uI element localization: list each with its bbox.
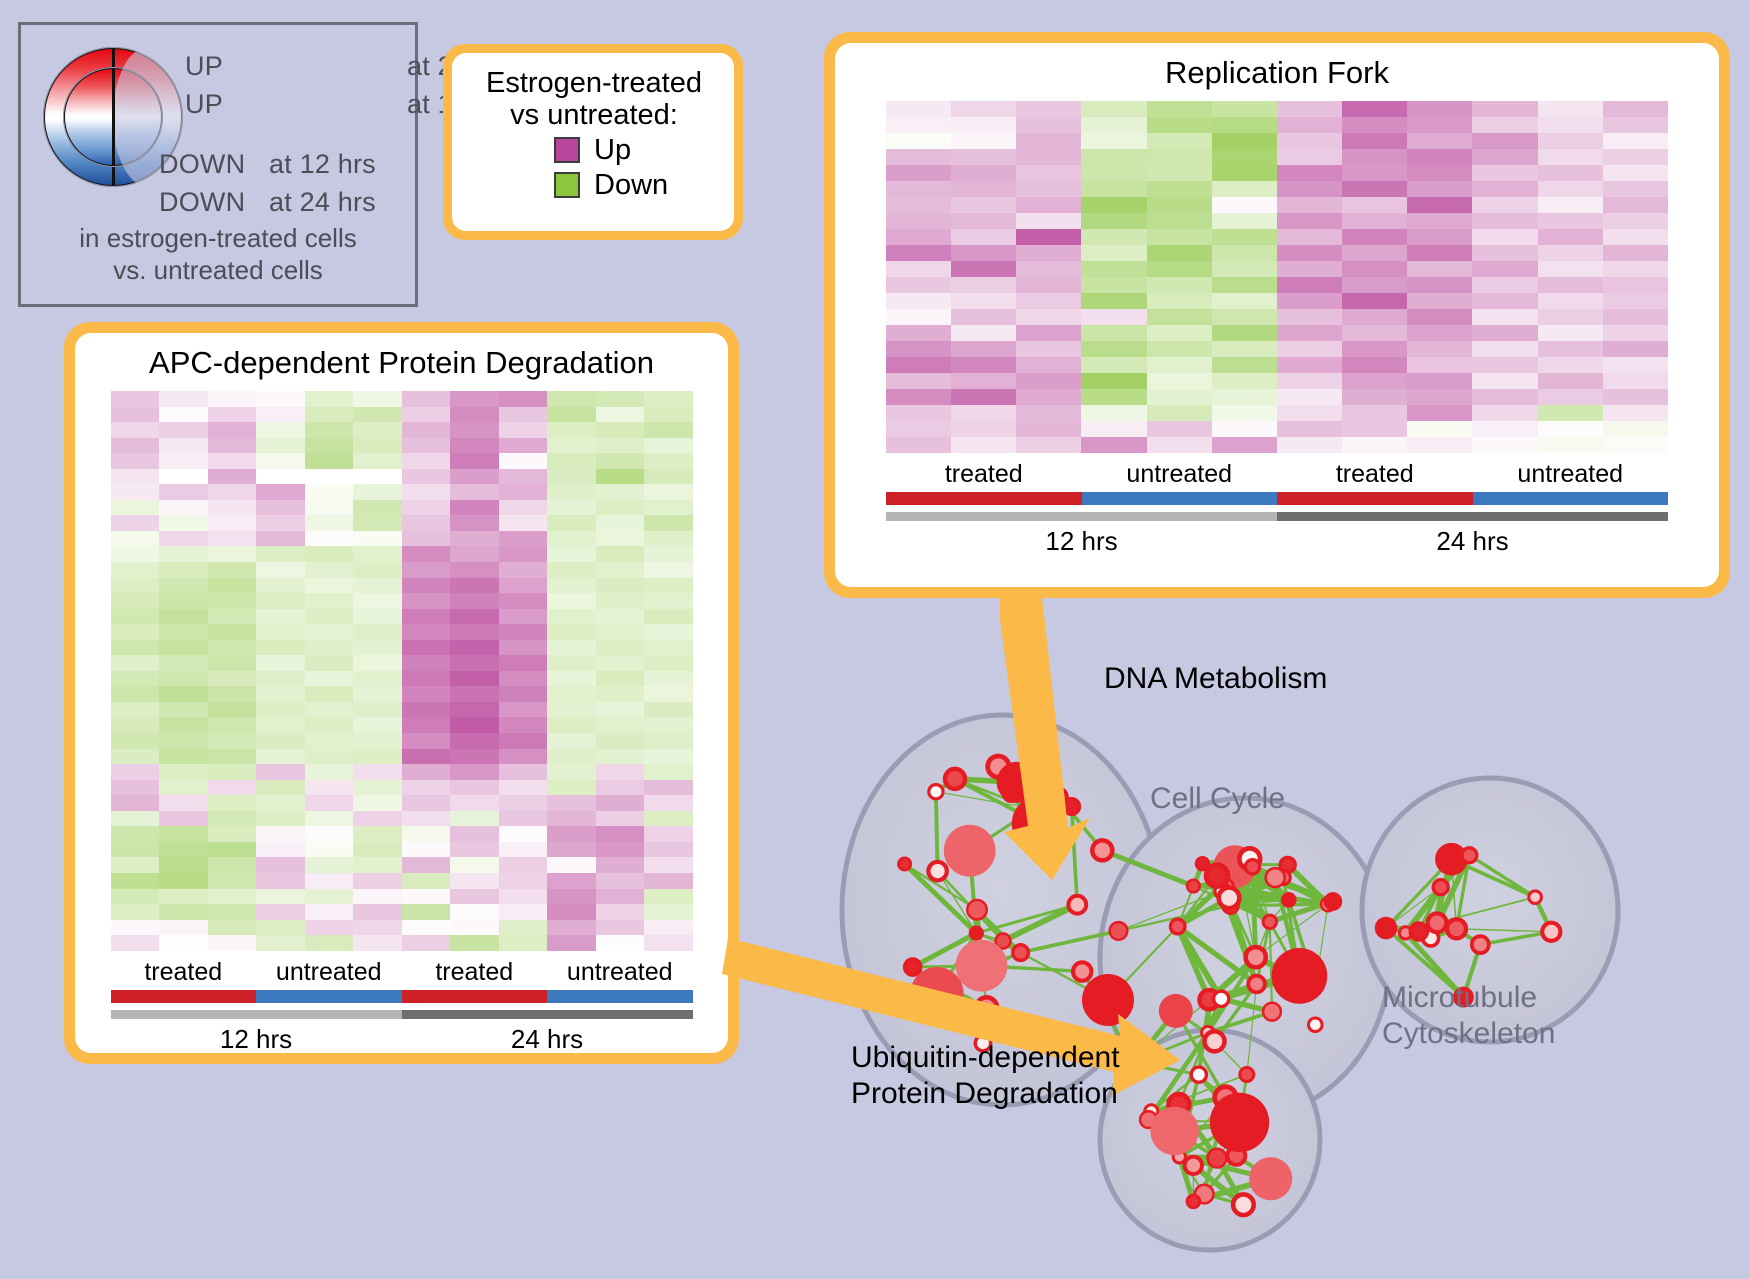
heatmap-cell bbox=[499, 562, 548, 578]
heatmap-cell bbox=[256, 422, 305, 438]
heatmap-cell bbox=[596, 407, 645, 423]
heatmap-cell bbox=[951, 405, 1016, 421]
heatmap-cell bbox=[208, 826, 257, 842]
heatmap-cell bbox=[1277, 245, 1342, 261]
color-scale-legend: UP at 24 hrs UP at 12 hrs DOWN at 12 hrs… bbox=[18, 22, 418, 307]
heatmap-cell bbox=[159, 655, 208, 671]
heatmap-cell bbox=[547, 484, 596, 500]
heatmap-cell bbox=[499, 671, 548, 687]
heatmap-cell bbox=[644, 733, 693, 749]
heatmap-cell bbox=[305, 780, 354, 796]
heatmap-cell bbox=[450, 578, 499, 594]
heatmap-cell bbox=[1407, 357, 1472, 373]
heatmap-cell bbox=[1538, 405, 1603, 421]
timepoint-label: 12 hrs bbox=[886, 521, 1277, 557]
caption-line-2: vs. untreated cells bbox=[21, 255, 415, 287]
heatmap-cell bbox=[1472, 101, 1537, 117]
heatmap-cell bbox=[353, 904, 402, 920]
network-node bbox=[1191, 1067, 1206, 1082]
heatmap-cell bbox=[1538, 229, 1603, 245]
heatmap-cell bbox=[1081, 405, 1146, 421]
heatmap-cell bbox=[111, 624, 160, 640]
heatmap-cell bbox=[1212, 133, 1277, 149]
heatmap-cell bbox=[1147, 373, 1212, 389]
heatmap-cell bbox=[951, 373, 1016, 389]
heatmap-cell bbox=[499, 889, 548, 905]
heatmap-cell bbox=[547, 624, 596, 640]
heatmap-cell bbox=[499, 686, 548, 702]
heatmap-cell bbox=[111, 873, 160, 889]
condition-label: treated bbox=[111, 951, 257, 990]
heatmap-cell bbox=[596, 655, 645, 671]
heatmap-cell bbox=[1016, 101, 1081, 117]
heatmap-cell bbox=[596, 515, 645, 531]
heatmap-cell bbox=[402, 422, 451, 438]
heatmap-cell bbox=[1081, 437, 1146, 453]
bar-untreated-24 bbox=[547, 990, 693, 1003]
heatmap-cell bbox=[159, 391, 208, 407]
heatmap-cell bbox=[596, 640, 645, 656]
condition-label: untreated bbox=[1473, 453, 1669, 492]
network-node bbox=[956, 940, 1008, 992]
heatmap-cell bbox=[353, 422, 402, 438]
heatmap-cell bbox=[1538, 341, 1603, 357]
heatmap-cell bbox=[111, 422, 160, 438]
heatmap-cell bbox=[1147, 277, 1212, 293]
heatmap-cell bbox=[353, 407, 402, 423]
network-node bbox=[945, 769, 965, 789]
heatmap-cell bbox=[1472, 325, 1537, 341]
heatmap-cell bbox=[951, 309, 1016, 325]
heatmap-cell bbox=[596, 764, 645, 780]
heatmap-cell bbox=[353, 780, 402, 796]
heatmap-cell bbox=[951, 197, 1016, 213]
heatmap-cell bbox=[1538, 437, 1603, 453]
heatmap-cell bbox=[208, 764, 257, 780]
heatmap-cell bbox=[596, 624, 645, 640]
heatmap-cell bbox=[305, 811, 354, 827]
heatmap-cell bbox=[1407, 117, 1472, 133]
heatmap-cell bbox=[159, 702, 208, 718]
heatmap-cell bbox=[596, 484, 645, 500]
heatmap-cell bbox=[111, 671, 160, 687]
heatmap-cell bbox=[596, 811, 645, 827]
heatmap-cell bbox=[644, 780, 693, 796]
heatmap-cell bbox=[1147, 101, 1212, 117]
heatmap-cell bbox=[1081, 389, 1146, 405]
heatmap-cell bbox=[159, 407, 208, 423]
heatmap-cell bbox=[402, 873, 451, 889]
bar-treated-24 bbox=[402, 990, 548, 1003]
heatmap-cell bbox=[596, 562, 645, 578]
heatmap-cell bbox=[402, 484, 451, 500]
heatmap-cell bbox=[353, 671, 402, 687]
heatmap-cell bbox=[353, 484, 402, 500]
heatmap-cell bbox=[1342, 309, 1407, 325]
heatmap-cell bbox=[596, 469, 645, 485]
heatmap-cell bbox=[951, 277, 1016, 293]
heatmap-cell bbox=[1407, 277, 1472, 293]
heatmap-cell bbox=[547, 811, 596, 827]
heatmap-cell bbox=[111, 609, 160, 625]
heatmap-cell bbox=[547, 920, 596, 936]
heatmap-cell bbox=[1277, 229, 1342, 245]
heatmap-cell bbox=[1081, 325, 1146, 341]
network-node bbox=[1240, 1068, 1254, 1082]
heatmap-cell bbox=[159, 562, 208, 578]
heatmap-cell bbox=[159, 857, 208, 873]
heatmap-cell bbox=[1081, 309, 1146, 325]
heatmap-cell bbox=[886, 181, 951, 197]
network-node bbox=[1249, 1157, 1292, 1200]
heatmap-cell bbox=[1147, 405, 1212, 421]
heatmap-cell bbox=[1407, 165, 1472, 181]
heatmap-cell bbox=[1212, 213, 1277, 229]
heatmap-cell bbox=[1277, 181, 1342, 197]
heatmap-cell bbox=[305, 391, 354, 407]
heatmap-cell bbox=[450, 904, 499, 920]
heatmap-cell bbox=[305, 873, 354, 889]
heatmap-cell bbox=[596, 438, 645, 454]
heatmap-cell bbox=[1147, 229, 1212, 245]
heatmap-cell bbox=[644, 391, 693, 407]
heatmap-cell bbox=[305, 640, 354, 656]
microtubule-line-1: Microtubule bbox=[1382, 980, 1555, 1016]
heatmap-cell bbox=[1016, 133, 1081, 149]
heatmap-cell bbox=[1016, 405, 1081, 421]
heatmap-cell bbox=[353, 609, 402, 625]
heatmap-cell bbox=[499, 780, 548, 796]
heatmap-cell bbox=[159, 578, 208, 594]
heatmap-cell bbox=[1277, 357, 1342, 373]
heatmap-cell bbox=[402, 842, 451, 858]
heatmap-cell bbox=[1603, 133, 1668, 149]
heatmap-cell bbox=[450, 422, 499, 438]
heatmap-cell bbox=[159, 469, 208, 485]
heatmap-cell bbox=[159, 873, 208, 889]
heatmap-cell bbox=[159, 484, 208, 500]
heatmap-cell bbox=[208, 515, 257, 531]
heatmap-cell bbox=[402, 749, 451, 765]
heatmap-cell bbox=[208, 500, 257, 516]
heatmap-cell bbox=[208, 609, 257, 625]
heatmap-cell bbox=[256, 920, 305, 936]
heatmap-cell bbox=[1147, 213, 1212, 229]
heatmap-cell bbox=[111, 515, 160, 531]
heatmap-cell bbox=[1342, 277, 1407, 293]
heatmap-cell bbox=[499, 453, 548, 469]
heatmap-cell bbox=[499, 920, 548, 936]
timepoint-label: 24 hrs bbox=[1277, 521, 1668, 557]
heatmap-cell bbox=[1342, 165, 1407, 181]
heatmap-cell bbox=[305, 453, 354, 469]
heatmap-cell bbox=[305, 531, 354, 547]
heatmap-cell bbox=[547, 531, 596, 547]
replication-fork-title: Replication Fork bbox=[1165, 55, 1389, 91]
heatmap-cell bbox=[1407, 325, 1472, 341]
heatmap-cell bbox=[1342, 213, 1407, 229]
heatmap-cell bbox=[402, 438, 451, 454]
heatmap-cell bbox=[208, 593, 257, 609]
heatmap-cell bbox=[305, 609, 354, 625]
heatmap-cell bbox=[111, 764, 160, 780]
heatmap-cell bbox=[159, 935, 208, 951]
network-node bbox=[1208, 1149, 1227, 1168]
heatmap-cell bbox=[353, 515, 402, 531]
heatmap-cell bbox=[1603, 117, 1668, 133]
heatmap-cell bbox=[1407, 309, 1472, 325]
heatmap-cell bbox=[1147, 165, 1212, 181]
heatmap-cell bbox=[256, 842, 305, 858]
heatmap-cell bbox=[644, 920, 693, 936]
heatmap-cell bbox=[159, 795, 208, 811]
heatmap-cell bbox=[1277, 373, 1342, 389]
timepoint-labels: 12 hrs24 hrs bbox=[886, 521, 1668, 557]
heatmap-cell bbox=[159, 500, 208, 516]
heatmap-cell bbox=[111, 733, 160, 749]
heatmap-cell bbox=[644, 826, 693, 842]
heatmap-cell bbox=[353, 531, 402, 547]
heatmap-cell bbox=[1016, 245, 1081, 261]
heatmap-cell bbox=[1472, 341, 1537, 357]
heatmap-cell bbox=[1472, 213, 1537, 229]
heatmap-cell bbox=[256, 515, 305, 531]
heatmap-cell bbox=[1472, 421, 1537, 437]
heatmap-cell bbox=[1342, 181, 1407, 197]
heatmap-cell bbox=[450, 889, 499, 905]
heatmap-cell bbox=[951, 389, 1016, 405]
heatmap-cell bbox=[1407, 405, 1472, 421]
heatmap-cell bbox=[644, 764, 693, 780]
heatmap-cell bbox=[353, 842, 402, 858]
heatmap-cell bbox=[305, 422, 354, 438]
heatmap-cell bbox=[353, 640, 402, 656]
heatmap-cell bbox=[450, 671, 499, 687]
heatmap-cell bbox=[111, 655, 160, 671]
heatmap-cell bbox=[402, 857, 451, 873]
heatmap-cell bbox=[1538, 277, 1603, 293]
heatmap-cell bbox=[305, 500, 354, 516]
heatmap-cell bbox=[1016, 437, 1081, 453]
heatmap-cell bbox=[450, 795, 499, 811]
heatmap-cell bbox=[1016, 213, 1081, 229]
heatmap-cell bbox=[305, 546, 354, 562]
heatmap-cell bbox=[1212, 325, 1277, 341]
heatmap-cell bbox=[596, 609, 645, 625]
heatmap-cell bbox=[402, 655, 451, 671]
heatmap-cell bbox=[644, 640, 693, 656]
ubiquitin-line-1: Ubiquitin-dependent bbox=[851, 1040, 1120, 1076]
heatmap-cell bbox=[1277, 101, 1342, 117]
heatmap-cell bbox=[1603, 293, 1668, 309]
heatmap-cell bbox=[256, 717, 305, 733]
heatmap-cell bbox=[1538, 421, 1603, 437]
down-color-swatch bbox=[554, 172, 580, 198]
heatmap-cell bbox=[305, 857, 354, 873]
heatmap-cell bbox=[1538, 309, 1603, 325]
heatmap-cell bbox=[208, 873, 257, 889]
heatmap-cell bbox=[1603, 229, 1668, 245]
heatmap-cell bbox=[886, 245, 951, 261]
heatmap-cell bbox=[1081, 149, 1146, 165]
heatmap-cell bbox=[1016, 325, 1081, 341]
heatmap-cell bbox=[208, 702, 257, 718]
heatmap-cell bbox=[951, 229, 1016, 245]
heatmap-cell bbox=[1538, 213, 1603, 229]
heatmap-cell bbox=[159, 780, 208, 796]
heatmap-cell bbox=[547, 717, 596, 733]
heatmap-cell bbox=[951, 437, 1016, 453]
heatmap-cell bbox=[1016, 261, 1081, 277]
heatmap-cell bbox=[1472, 293, 1537, 309]
heatmap-cell bbox=[644, 717, 693, 733]
heatmap-cell bbox=[886, 389, 951, 405]
heatmap-cell bbox=[402, 702, 451, 718]
heatmap-cell bbox=[353, 686, 402, 702]
heatmap-cell bbox=[353, 469, 402, 485]
condition-labels: treateduntreatedtreateduntreated bbox=[886, 453, 1668, 492]
heatmap-cell bbox=[450, 500, 499, 516]
heatmap-cell bbox=[159, 749, 208, 765]
heatmap-cell bbox=[1212, 229, 1277, 245]
heatmap-cell bbox=[951, 101, 1016, 117]
condition-label: untreated bbox=[256, 951, 402, 990]
heatmap-cell bbox=[208, 453, 257, 469]
heatmap-cell bbox=[547, 842, 596, 858]
heatmap-cell bbox=[547, 609, 596, 625]
heatmap-cell bbox=[1603, 277, 1668, 293]
heatmap-cell bbox=[499, 857, 548, 873]
condition-color-bar bbox=[886, 492, 1668, 505]
heatmap-cell bbox=[256, 407, 305, 423]
heatmap-cell bbox=[1603, 325, 1668, 341]
heatmap-cell bbox=[450, 609, 499, 625]
heatmap-cell bbox=[644, 484, 693, 500]
heatmap-cell bbox=[402, 546, 451, 562]
heatmap-cell bbox=[256, 453, 305, 469]
apc-degradation-title: APC-dependent Protein Degradation bbox=[149, 345, 654, 381]
heatmap-cell bbox=[1472, 357, 1537, 373]
heatmap-cell bbox=[1147, 437, 1212, 453]
heatmap-cell bbox=[305, 904, 354, 920]
heatmap-cell bbox=[111, 780, 160, 796]
heatmap-cell bbox=[644, 531, 693, 547]
heatmap-cell bbox=[450, 438, 499, 454]
heatmap-cell bbox=[450, 453, 499, 469]
heatmap-cell bbox=[547, 469, 596, 485]
heatmap-cell bbox=[499, 873, 548, 889]
heatmap-cell bbox=[111, 935, 160, 951]
heatmap-cell bbox=[1342, 405, 1407, 421]
heatmap-cell bbox=[1342, 229, 1407, 245]
heatmap-cell bbox=[159, 811, 208, 827]
heatmap-cell bbox=[256, 733, 305, 749]
heatmap-cell bbox=[596, 686, 645, 702]
network-node bbox=[929, 785, 943, 799]
heatmap-cell bbox=[1342, 197, 1407, 213]
network-node bbox=[1050, 789, 1067, 806]
heatmap-cell bbox=[402, 826, 451, 842]
down-label: Down bbox=[594, 169, 668, 202]
heatmap-cell bbox=[951, 181, 1016, 197]
heatmap-cell bbox=[547, 655, 596, 671]
heatmap-cell bbox=[951, 357, 1016, 373]
network-node bbox=[1462, 848, 1477, 863]
heatmap-cell bbox=[1016, 389, 1081, 405]
network-node bbox=[1410, 923, 1427, 940]
pathway-network-diagram bbox=[790, 610, 1750, 1279]
heatmap-cell bbox=[402, 578, 451, 594]
heatmap-cell bbox=[951, 421, 1016, 437]
heatmap-cell bbox=[256, 531, 305, 547]
network-node bbox=[1214, 991, 1229, 1006]
heatmap-cell bbox=[1212, 149, 1277, 165]
heatmap-cell bbox=[208, 842, 257, 858]
heatmap-cell bbox=[499, 640, 548, 656]
heatmap-cell bbox=[1277, 405, 1342, 421]
heatmap-cell bbox=[402, 640, 451, 656]
heatmap-cell bbox=[256, 469, 305, 485]
heatmap-cell bbox=[1147, 421, 1212, 437]
network-node bbox=[1248, 976, 1265, 993]
heatmap-cell bbox=[499, 500, 548, 516]
heatmap-cell bbox=[208, 531, 257, 547]
heatmap-cell bbox=[1147, 117, 1212, 133]
heatmap-cell bbox=[886, 261, 951, 277]
heatmap-cell bbox=[353, 546, 402, 562]
heatmap-cell bbox=[1081, 213, 1146, 229]
heatmap-cell bbox=[547, 873, 596, 889]
heatmap-cell bbox=[596, 453, 645, 469]
heatmap-cell bbox=[499, 749, 548, 765]
heatmap-cell bbox=[111, 593, 160, 609]
heatmap-cell bbox=[499, 795, 548, 811]
timepoint-label: 24 hrs bbox=[402, 1019, 693, 1055]
heatmap-cell bbox=[111, 531, 160, 547]
heatmap-cell bbox=[951, 133, 1016, 149]
heatmap-cell bbox=[1538, 149, 1603, 165]
network-node bbox=[1026, 800, 1043, 817]
heatmap-cell bbox=[256, 624, 305, 640]
heatmap-cell bbox=[644, 578, 693, 594]
heatmap-cell bbox=[1277, 197, 1342, 213]
heatmap-cell bbox=[1472, 229, 1537, 245]
heatmap-cell bbox=[159, 593, 208, 609]
heatmap-cell bbox=[111, 686, 160, 702]
heatmap-cell bbox=[596, 920, 645, 936]
network-node bbox=[928, 862, 946, 880]
heatmap-cell bbox=[1212, 437, 1277, 453]
heatmap-cell bbox=[886, 341, 951, 357]
heatmap-cell bbox=[1212, 117, 1277, 133]
heatmap-cell bbox=[402, 717, 451, 733]
scale-direction-label: UP bbox=[185, 51, 223, 82]
network-node bbox=[1210, 1093, 1269, 1152]
heatmap-cell bbox=[1472, 181, 1537, 197]
heatmap-cell bbox=[353, 873, 402, 889]
replication-fork-heatmap bbox=[886, 101, 1668, 453]
heatmap-cell bbox=[1342, 149, 1407, 165]
heatmap-cell bbox=[1081, 421, 1146, 437]
heatmap-cell bbox=[1212, 245, 1277, 261]
scale-time-label: at 24 hrs bbox=[269, 187, 376, 218]
heatmap-cell bbox=[402, 453, 451, 469]
heatmap-cell bbox=[305, 935, 354, 951]
heatmap-cell bbox=[208, 546, 257, 562]
heatmap-cell bbox=[159, 733, 208, 749]
heatmap-cell bbox=[1603, 181, 1668, 197]
network-node bbox=[1110, 922, 1128, 940]
